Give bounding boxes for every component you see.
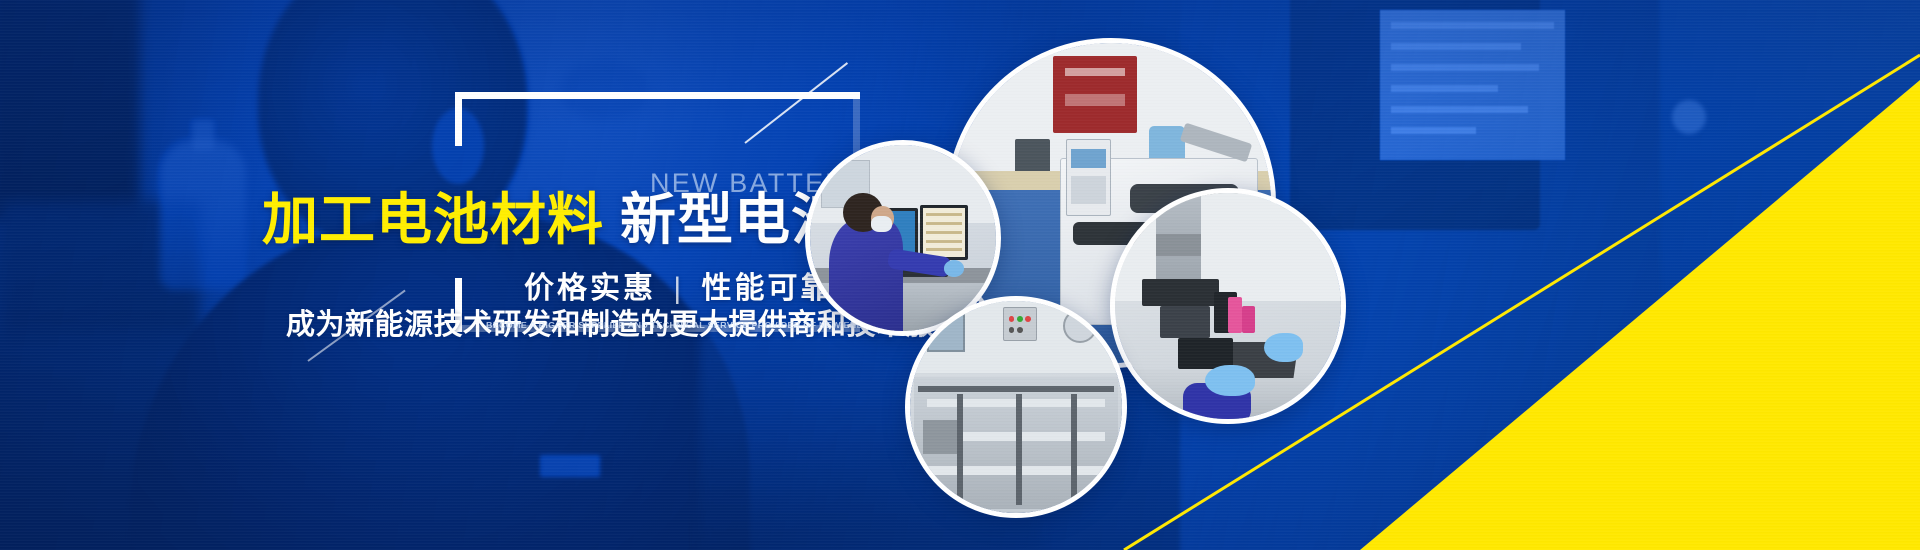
banner-copy: NEW BATTERY RESEARCH 加工电池材料新型电池研究 价格实惠 |… <box>0 0 940 550</box>
photo-circle-press-with-gloved-hands <box>1110 188 1346 424</box>
hero-banner: NEW BATTERY RESEARCH 加工电池材料新型电池研究 价格实惠 |… <box>0 0 1920 550</box>
headline-primary: 加工电池材料 <box>262 188 604 251</box>
photo-circle-production-line <box>905 296 1127 518</box>
